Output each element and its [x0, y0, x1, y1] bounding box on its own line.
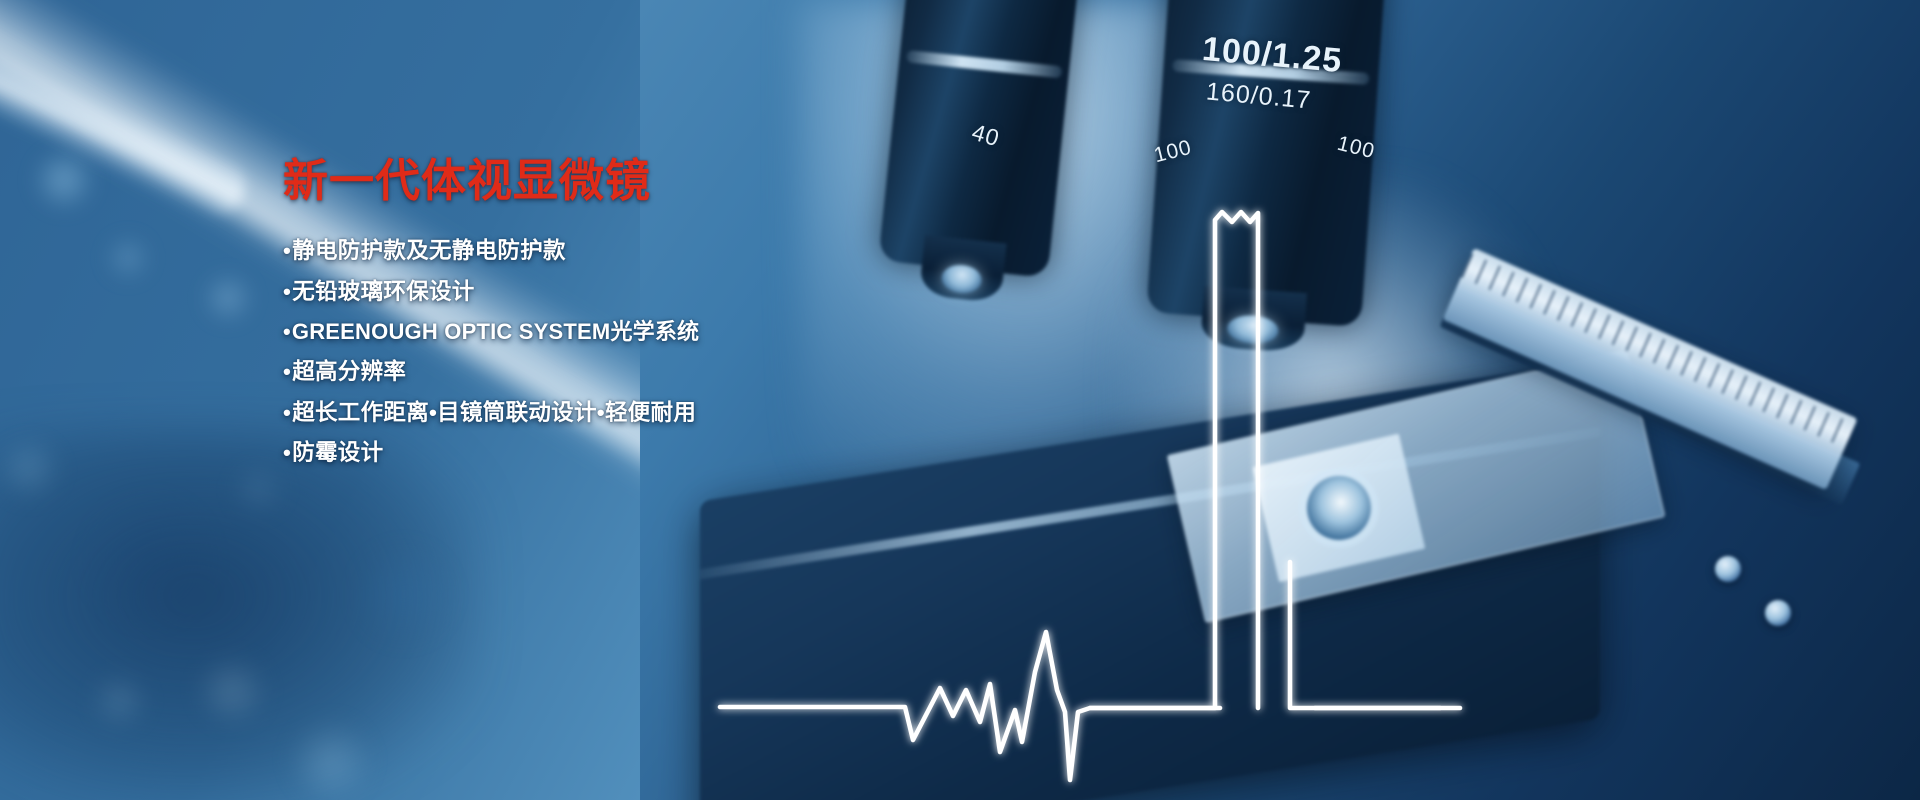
slide-label: [1253, 434, 1426, 583]
list-item-label: 防霉设计: [292, 442, 383, 465]
bullet-icon: •: [283, 240, 291, 263]
objective-barrel: [1146, 0, 1388, 327]
list-item: • 无铅玻璃环保设计: [283, 281, 923, 304]
list-item: • 防霉设计: [283, 442, 923, 465]
list-item: • GREENOUGH OPTIC SYSTEM光学系统: [283, 321, 923, 343]
bullet-icon: •: [283, 402, 291, 425]
list-item-label: 静电防护款及无静电防护款: [292, 240, 566, 263]
list-item-label: 无铅玻璃环保设计: [292, 281, 474, 304]
feature-list: • 静电防护款及无静电防护款 • 无铅玻璃环保设计 • GREENOUGH OP…: [283, 240, 923, 465]
list-item-label: 超长工作距离•目镜筒联动设计•轻便耐用: [292, 402, 696, 425]
page-title: 新一代体视显微镜: [283, 156, 923, 206]
hero-text-block: 新一代体视显微镜 • 静电防护款及无静电防护款 • 无铅玻璃环保设计 • GRE…: [283, 156, 923, 483]
list-item: • 静电防护款及无静电防护款: [283, 240, 923, 263]
hero-banner: 40 100/1.25 160/0.17 100 100: [0, 0, 1920, 800]
list-item: • 超长工作距离•目镜筒联动设计•轻便耐用: [283, 402, 923, 425]
stage-knob-2: [1765, 600, 1791, 626]
bullet-icon: •: [283, 281, 291, 304]
background-dark-bokeh: [0, 430, 480, 800]
list-item-label: 超高分辨率: [292, 361, 406, 384]
list-item: • 超高分辨率: [283, 361, 923, 384]
list-item-label: GREENOUGH OPTIC SYSTEM光学系统: [292, 321, 699, 343]
objective-lens-right: [1146, 0, 1388, 327]
bullet-icon: •: [283, 442, 291, 465]
bullet-icon: •: [283, 321, 291, 343]
stage-knob-1: [1715, 556, 1741, 582]
slide-specimen-dot: [1301, 470, 1378, 547]
bullet-icon: •: [283, 361, 291, 384]
